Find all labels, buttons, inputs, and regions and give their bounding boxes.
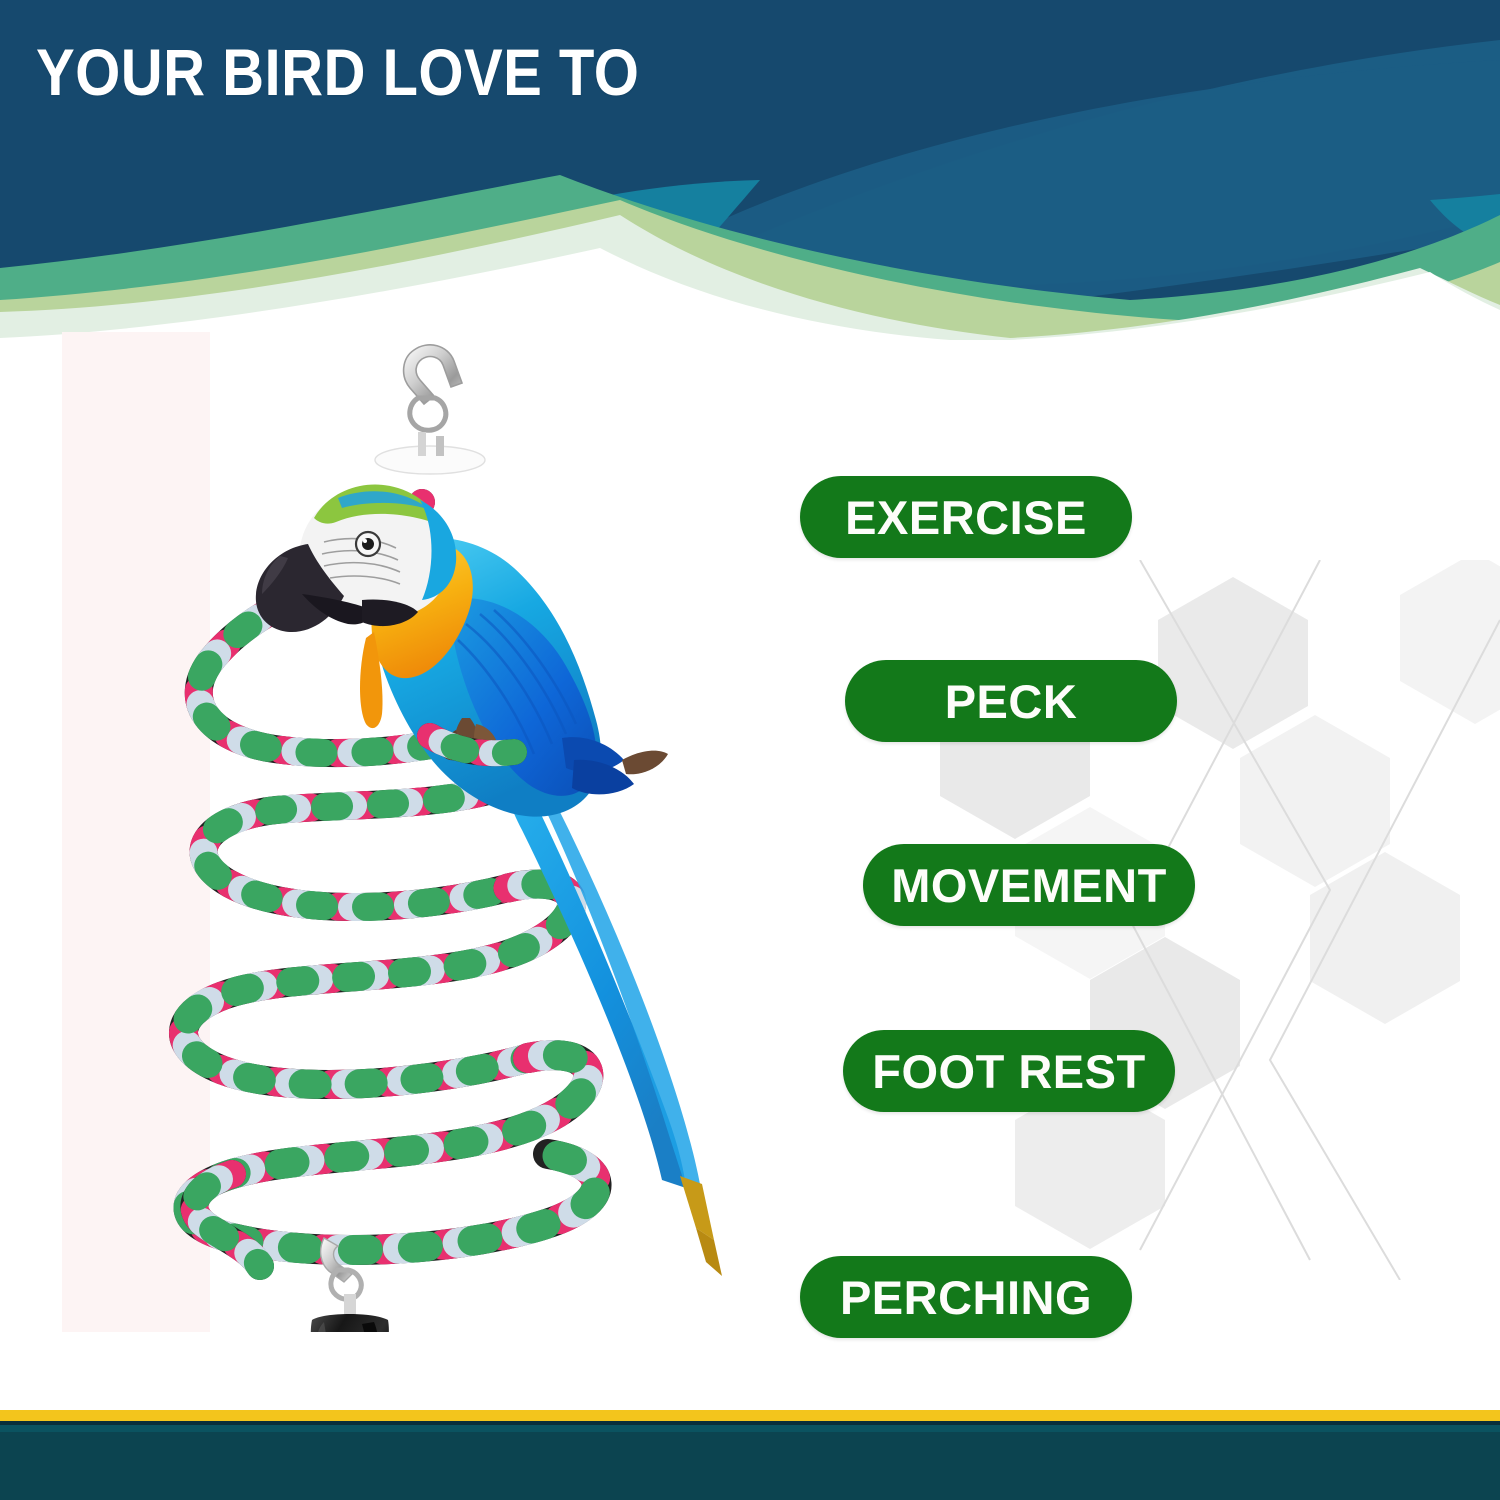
benefit-pill-perching[interactable]: PERCHING: [800, 1256, 1132, 1338]
benefit-label: MOVEMENT: [891, 858, 1167, 913]
infographic-page: YOUR BIRD LOVE TO: [0, 0, 1500, 1500]
benefit-pill-peck[interactable]: PECK: [845, 660, 1177, 742]
bottom-bar-teal-band: [0, 1432, 1500, 1500]
product-photo: [62, 332, 762, 1332]
benefit-pill-exercise[interactable]: EXERCISE: [800, 476, 1132, 558]
benefit-label: PERCHING: [840, 1270, 1092, 1325]
bottom-bar-gold-stripe: [0, 1410, 1500, 1421]
header-band: YOUR BIRD LOVE TO: [0, 0, 1500, 340]
benefit-pill-foot-rest[interactable]: FOOT REST: [843, 1030, 1175, 1112]
benefit-pill-movement[interactable]: MOVEMENT: [863, 844, 1195, 926]
rope-coil-6: [194, 1174, 260, 1266]
benefit-label: FOOT REST: [872, 1044, 1145, 1099]
bottom-bar-teal-highlight: [0, 1425, 1500, 1432]
hexagon-thin-lines: [1130, 560, 1500, 1280]
bottom-bar: [0, 1410, 1500, 1500]
hanging-hook-icon: [375, 345, 485, 474]
benefit-label: PECK: [945, 674, 1078, 729]
benefit-label: EXERCISE: [845, 490, 1087, 545]
product-illustration: [62, 332, 762, 1332]
page-title: YOUR BIRD LOVE TO: [36, 38, 639, 107]
